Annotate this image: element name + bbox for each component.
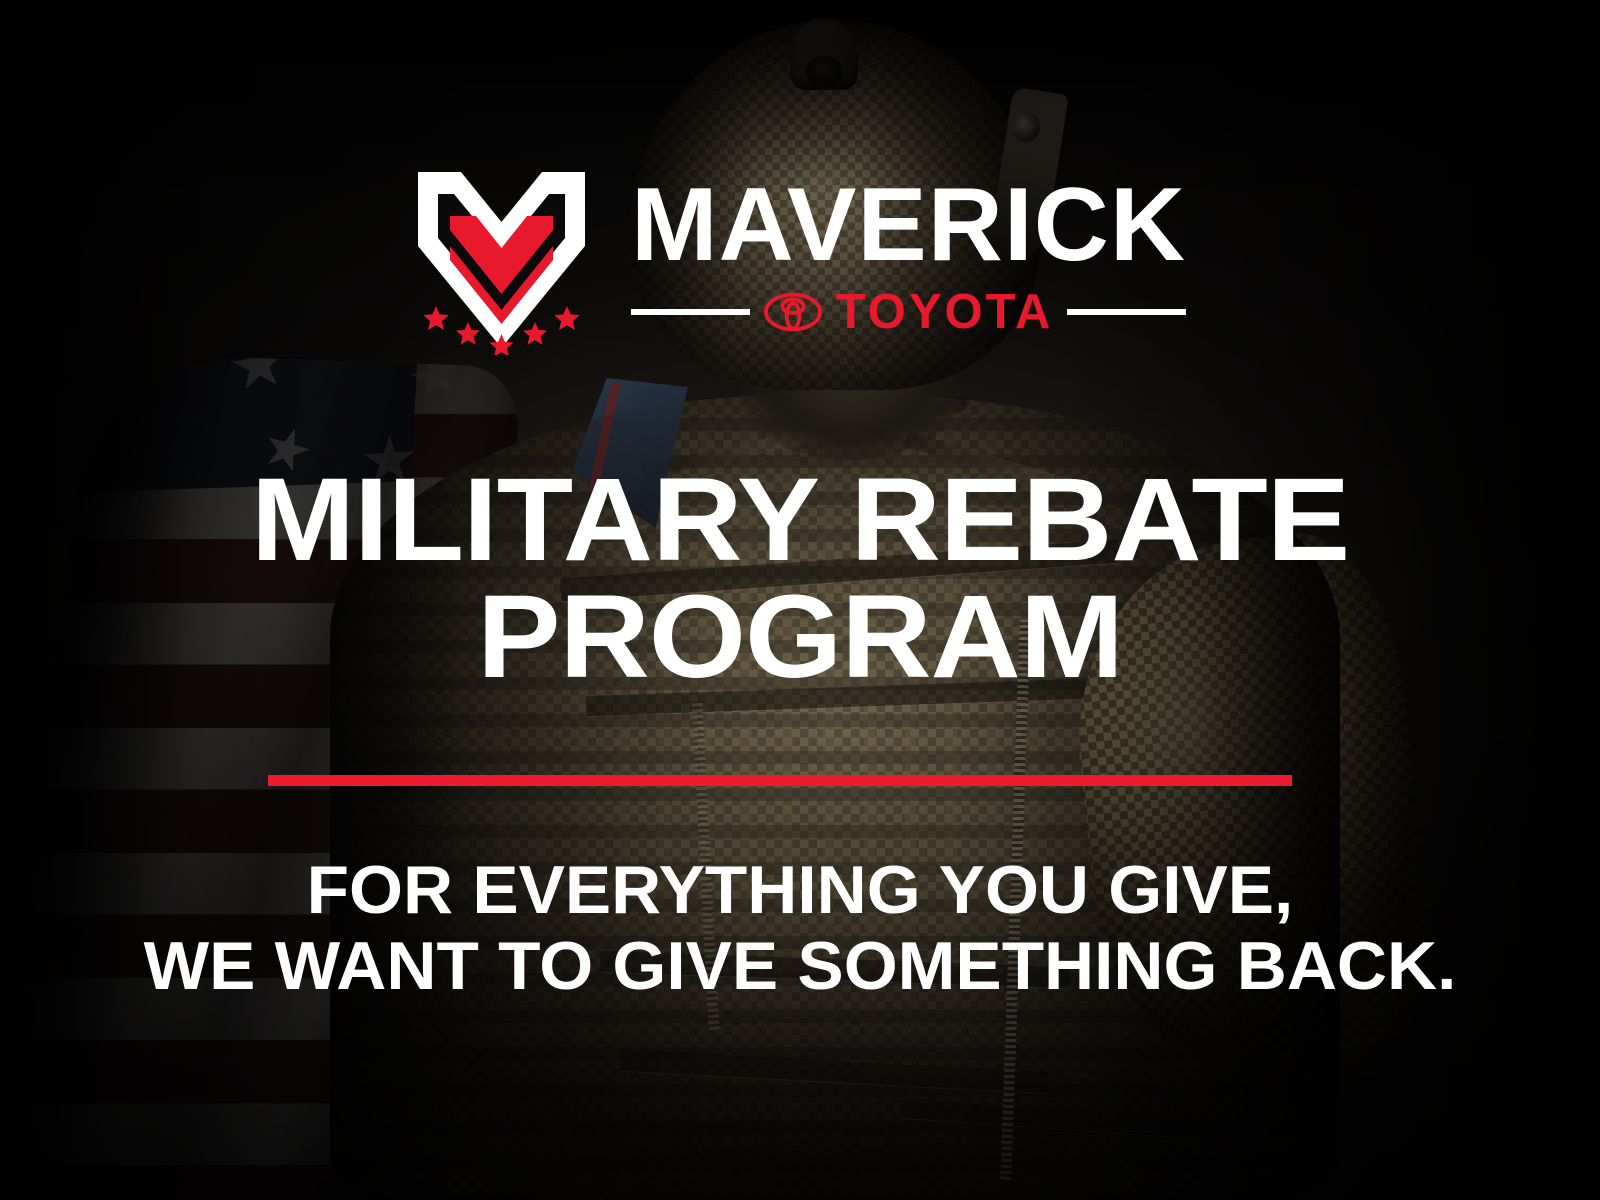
headline-line-2: PROGRAM <box>0 579 1600 696</box>
toyota-sub-brand-label: TOYOTA <box>836 288 1054 337</box>
page-title: MILITARY REBATE PROGRAM <box>0 462 1600 696</box>
military-rebate-poster: MAVERICK TOYOTA MILITARY REBATE PROGRAM <box>0 0 1600 1200</box>
subhead-line-1: FOR EVERYTHING YOU GIVE, <box>307 852 1294 928</box>
maverick-toyota-logo-lockup[interactable]: MAVERICK TOYOTA <box>0 160 1600 355</box>
toyota-oval-logo-icon <box>764 292 822 332</box>
page-subtitle: FOR EVERYTHING YOU GIVE, WE WANT TO GIVE… <box>0 852 1600 1004</box>
toyota-sub-brand-row: TOYOTA <box>631 288 1186 337</box>
maverick-wordmark: MAVERICK TOYOTA <box>631 178 1186 337</box>
headline-line-1: MILITARY REBATE <box>251 454 1349 586</box>
rule-right <box>1067 309 1186 315</box>
red-divider-rule <box>268 775 1292 786</box>
maverick-chevron-emblem-icon <box>414 160 589 355</box>
rule-left <box>631 309 750 315</box>
poster-content: MAVERICK TOYOTA MILITARY REBATE PROGRAM <box>0 0 1600 1200</box>
subhead-line-2: WE WANT TO GIVE SOMETHING BACK. <box>0 928 1600 1004</box>
brand-name: MAVERICK <box>631 178 1186 274</box>
